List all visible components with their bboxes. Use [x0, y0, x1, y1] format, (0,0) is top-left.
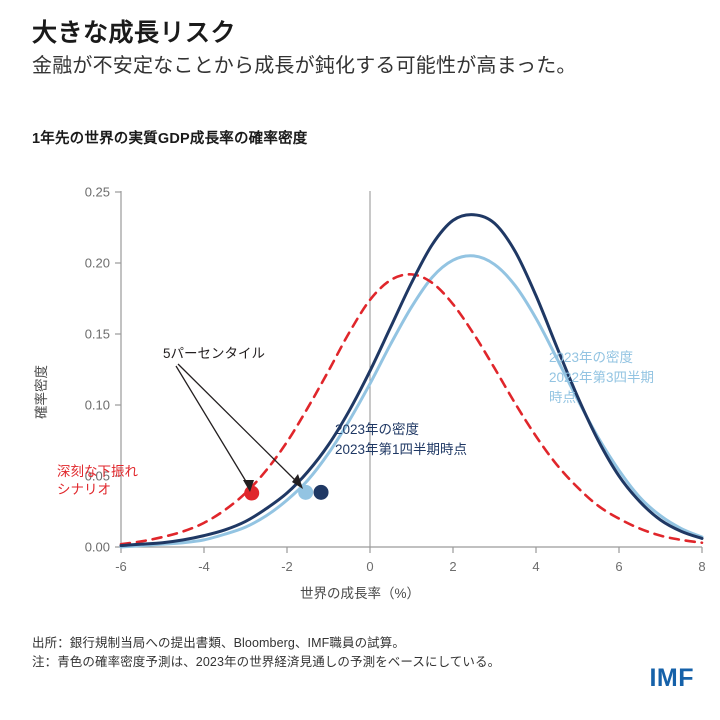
x-tick-label: 2 — [449, 559, 456, 574]
x-tick-label: -4 — [198, 559, 210, 574]
severe-downside-label-line2: シナリオ — [57, 482, 111, 497]
arrow-line-to-red-marker — [176, 366, 250, 488]
x-axis-ticks: -6-4-202468 — [115, 547, 705, 574]
density-2023q1-label-line1: 2023年の密度 — [335, 421, 419, 437]
severe-downside-label-line1: 深刻な下振れ — [57, 464, 138, 479]
x-tick-label: 6 — [615, 559, 622, 574]
footnote-block: 出所：銀行規制当局への提出書類、Bloomberg、IMF職員の試算。 注：青色… — [32, 634, 652, 673]
page-title: 大きな成長リスク — [32, 18, 692, 49]
page-subtitle: 金融が不安定なことから成長が鈍化する可能性が高まった。 — [32, 53, 692, 79]
y-axis-ticks: 0.000.050.100.150.200.25 — [85, 185, 121, 555]
y-tick-label: 0.20 — [85, 256, 110, 271]
axis-gridlines — [121, 191, 702, 547]
y-tick-label: 0.15 — [85, 327, 110, 342]
chart-area: 0.000.050.100.150.200.25 -6-4-202468 世界の… — [0, 160, 720, 620]
density-2022q3-label-line2: 2022年第3四半期 — [549, 369, 654, 385]
series-line-2 — [121, 256, 702, 547]
marker-5th-percentile-severe — [244, 486, 259, 501]
x-tick-label: 4 — [532, 559, 539, 574]
density-chart: 0.000.050.100.150.200.25 -6-4-202468 世界の… — [0, 160, 720, 620]
density-2023q1-label-line2: 2023年第1四半期時点 — [335, 441, 467, 457]
chart-title: 1年先の世界の実質GDP成長率の確率密度 — [32, 127, 307, 148]
arrow-line-to-blue-markers — [178, 364, 300, 485]
y-tick-label: 0.25 — [85, 185, 110, 200]
y-tick-label: 0.00 — [85, 540, 110, 555]
series-line-3 — [121, 274, 702, 544]
x-tick-label: 0 — [366, 559, 373, 574]
marker-5th-percentile-2023q1 — [314, 485, 329, 500]
methodology-note: 注：青色の確率密度予測は、2023年の世界経済見通しの予測をベースにしている。 — [32, 653, 652, 672]
percentile-annotation-label: 5パーセンタイル — [163, 346, 265, 361]
x-axis-title: 世界の成長率（%） — [300, 585, 420, 601]
density-2022q3-label-line3: 時点 — [549, 390, 576, 405]
y-axis-title: 確率密度 — [33, 365, 49, 419]
x-tick-label: -6 — [115, 559, 127, 574]
density-2022q3-label-line1: 2023年の密度 — [549, 349, 633, 365]
imf-logo: IMF — [649, 664, 694, 693]
header-block: 大きな成長リスク 金融が不安定なことから成長が鈍化する可能性が高まった。 — [32, 18, 692, 79]
y-tick-label: 0.10 — [85, 398, 110, 413]
infographic-page: 大きな成長リスク 金融が不安定なことから成長が鈍化する可能性が高まった。 1年先… — [0, 0, 720, 720]
x-tick-label: 8 — [698, 559, 705, 574]
source-note: 出所：銀行規制当局への提出書類、Bloomberg、IMF職員の試算。 — [32, 634, 652, 653]
x-tick-label: -2 — [281, 559, 293, 574]
